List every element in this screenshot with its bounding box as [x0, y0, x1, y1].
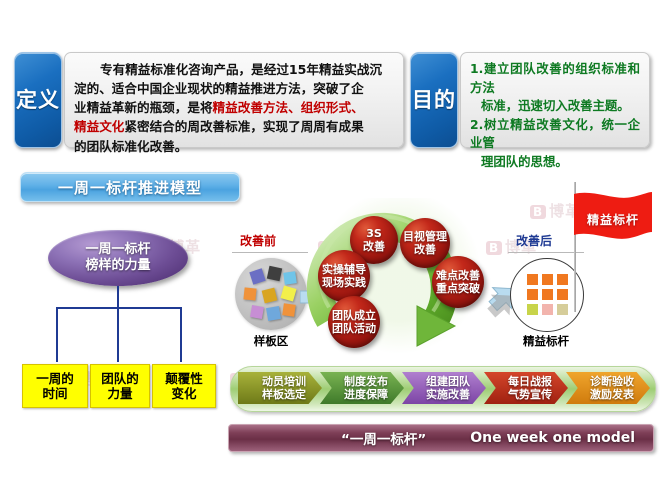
before-scattered-square: [266, 306, 281, 321]
sphere-visual-line-1: 目视管理: [403, 230, 447, 243]
after-grid-cell: [556, 288, 569, 301]
process-step-line-1: 每日战报: [508, 375, 552, 388]
after-grid-cell: [556, 303, 569, 316]
after-grid-cell: [526, 273, 539, 286]
sphere-coaching-line-2: 现场实践: [322, 276, 366, 289]
definition-line-1: 专有精益标准化咨询产品，是经过15年精益实战沉: [100, 62, 382, 77]
before-scattered-square: [250, 305, 264, 319]
after-grid-cell: [541, 303, 554, 316]
purpose-item-1-line-2: 标准，迅速切入改善主题。: [470, 97, 640, 116]
definition-tag-label: 定义: [16, 89, 60, 111]
process-step-3: 组建团队 实施改善: [402, 372, 486, 404]
definition-line-3-pre: 业精益革新的瓶颈，是将: [74, 100, 213, 115]
connector-branch-right: [180, 307, 182, 362]
process-step-line-2: 实施改善: [426, 388, 470, 401]
pillar-time-line-2: 时间: [42, 386, 67, 401]
sphere-team-setup: 团队成立 团队活动: [328, 296, 380, 348]
after-label: 改善后: [516, 232, 552, 249]
pillar-box-team: 团队的 力量: [90, 364, 150, 408]
pillar-team-line-1: 团队的: [101, 371, 139, 386]
before-scattered-square: [262, 288, 278, 304]
after-grid-cell: [541, 288, 554, 301]
before-caption: 样板区: [235, 333, 307, 349]
before-label: 改善前: [240, 232, 276, 249]
sphere-3s-line-2: 改善: [363, 240, 385, 253]
after-caption: 精益标杆: [510, 333, 582, 349]
purpose-item-2-line-1: 2.树立精益改善文化，统一企业管: [470, 116, 640, 153]
ellipse-text: 一周一标杆 榜样的力量: [85, 242, 150, 275]
process-step-line-2: 激励发表: [590, 388, 634, 401]
sphere-hands-on-coaching: 实操辅导 现场实践: [318, 250, 370, 302]
definition-line-4-post: 紧密结合的周改善标准，实现了周周有成果: [124, 119, 363, 134]
definition-tag: 定义: [14, 52, 62, 148]
sphere-visual-text: 目视管理 改善: [403, 230, 447, 256]
purpose-panel: 1.建立团队改善的组织标准和方法 标准，迅速切入改善主题。 2.树立精益改善文化…: [460, 52, 650, 148]
before-scattered-square: [280, 285, 296, 301]
process-step-line-2: 样板选定: [262, 388, 306, 401]
pillar-team-line-2: 力量: [107, 386, 132, 401]
connector-horizontal: [56, 307, 182, 309]
process-step-label: 每日战报 气势宣传: [500, 375, 552, 402]
footer-banner: “一周一标杆” One week one model: [228, 424, 654, 452]
pillar-time-text: 一周的 时间: [36, 371, 74, 402]
before-scattered-square: [249, 268, 265, 284]
definition-line-5: 的团队标准化改善。: [74, 139, 187, 154]
footer-english-label: One week one model: [470, 430, 635, 446]
sphere-breakthrough-line-2: 重点突破: [436, 282, 480, 295]
purpose-item-1-line-1: 1.建立团队改善的组织标准和方法: [470, 60, 640, 97]
sphere-3s-line-1: 3S: [366, 227, 382, 240]
benchmark-flag: 精益标杆: [574, 192, 652, 246]
definition-line-3-highlight: 精益改善方法、组织形式、: [213, 100, 364, 115]
sphere-coaching-line-1: 实操辅导: [322, 263, 366, 276]
definition-text: 专有精益标准化咨询产品，是经过15年精益实战沉 淀的、适合中国企业现状的精益推进…: [65, 53, 403, 162]
connector-branch-center: [117, 307, 119, 362]
pillar-change-line-1: 颠覆性: [165, 371, 203, 386]
after-grid-cell: [526, 303, 539, 316]
sphere-3s-text: 3S 改善: [363, 227, 385, 253]
process-step-2: 制度发布 进度保障: [320, 372, 404, 404]
after-grid-cell: [526, 288, 539, 301]
pillar-change-line-2: 变化: [171, 386, 196, 401]
process-step-label: 动员培训 样板选定: [254, 375, 306, 402]
process-step-line-1: 诊断验收: [590, 375, 634, 388]
sphere-team-line-2: 团队活动: [332, 322, 376, 335]
process-step-line-2: 气势宣传: [508, 388, 552, 401]
after-rule: [508, 252, 584, 253]
sphere-breakthrough: 难点改善 重点突破: [432, 256, 484, 308]
purpose-text: 1.建立团队改善的组织标准和方法 标准，迅速切入改善主题。 2.树立精益改善文化…: [461, 53, 649, 178]
ellipse-line-1: 一周一标杆: [85, 242, 150, 257]
before-rule: [232, 252, 308, 253]
before-sample-area-circle: [235, 258, 307, 330]
slide-canvas: B博革 B博革 B博革 B博革 B博革 B博革 B博革 定义 专有精益标准化咨询…: [0, 0, 660, 495]
after-grid-cell: [541, 273, 554, 286]
process-step-1: 动员培训 样板选定: [238, 372, 322, 404]
pillar-change-text: 颠覆性 变化: [165, 371, 203, 402]
definition-panel: 专有精益标准化咨询产品，是经过15年精益实战沉 淀的、适合中国企业现状的精益推进…: [64, 52, 404, 148]
pillar-team-text: 团队的 力量: [101, 371, 139, 402]
sphere-team-text: 团队成立 团队活动: [332, 309, 376, 335]
pillar-box-time: 一周的 时间: [22, 364, 88, 408]
before-scattered-square: [283, 271, 297, 285]
connector-branch-left: [56, 307, 58, 362]
sphere-breakthrough-line-1: 难点改善: [436, 269, 480, 282]
process-step-label: 组建团队 实施改善: [418, 375, 470, 402]
process-step-line-1: 组建团队: [426, 375, 470, 388]
flag-label: 精益标杆: [574, 192, 652, 252]
pillar-box-change: 颠覆性 变化: [152, 364, 216, 408]
after-grid-cell: [556, 273, 569, 286]
purpose-tag: 目的: [410, 52, 458, 148]
process-step-label: 诊断验收 激励发表: [582, 375, 634, 402]
model-title-label: 一周一标杆推进模型: [58, 177, 202, 198]
purpose-tag-label: 目的: [412, 89, 456, 111]
sphere-visual-line-2: 改善: [414, 243, 436, 256]
pillar-time-line-1: 一周的: [36, 371, 74, 386]
model-title-banner: 一周一标杆推进模型: [20, 172, 240, 202]
process-step-label: 制度发布 进度保障: [336, 375, 388, 402]
sphere-team-line-1: 团队成立: [332, 309, 376, 322]
footer-chinese-label: “一周一标杆”: [341, 428, 426, 448]
after-benchmark-circle: [510, 258, 584, 332]
connector-vertical-stem: [117, 286, 119, 308]
purpose-item-2-line-2: 理团队的思想。: [470, 153, 640, 172]
power-of-example-ellipse: 一周一标杆 榜样的力量: [48, 230, 188, 286]
definition-line-2: 淀的、适合中国企业现状的精益推进方法，突破了企: [74, 81, 364, 96]
process-step-4: 每日战报 气势宣传: [484, 372, 568, 404]
ellipse-line-2: 榜样的力量: [85, 258, 150, 273]
process-step-5: 诊断验收 激励发表: [566, 372, 650, 404]
sphere-coaching-text: 实操辅导 现场实践: [322, 263, 366, 289]
process-step-line-2: 进度保障: [344, 388, 388, 401]
definition-line-4-highlight: 精益文化: [74, 119, 124, 134]
process-step-line-1: 制度发布: [344, 375, 388, 388]
before-scattered-square: [243, 287, 256, 300]
sphere-breakthrough-text: 难点改善 重点突破: [436, 269, 480, 295]
process-step-line-1: 动员培训: [262, 375, 306, 388]
before-scattered-square: [267, 266, 282, 281]
before-scattered-square: [282, 303, 296, 317]
